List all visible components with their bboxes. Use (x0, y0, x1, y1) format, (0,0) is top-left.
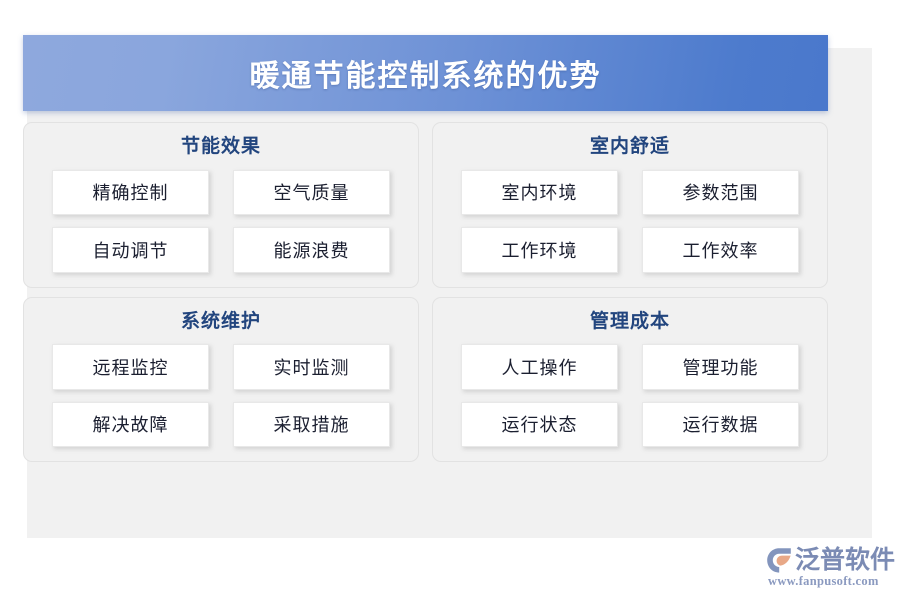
section-panel-management-cost: 管理成本 人工操作 管理功能 运行状态 运行数据 (432, 297, 828, 463)
page-title: 暖通节能控制系统的优势 (250, 51, 602, 95)
item-card[interactable]: 室内环境 (461, 170, 618, 215)
item-card[interactable]: 运行数据 (642, 402, 799, 447)
items-grid: 室内环境 参数范围 工作环境 工作效率 (461, 170, 799, 273)
logo-url: www.fanpusoft.com (768, 574, 879, 589)
item-card[interactable]: 人工操作 (461, 344, 618, 389)
section-title: 管理成本 (461, 311, 799, 334)
items-grid: 精确控制 空气质量 自动调节 能源浪费 (52, 170, 390, 273)
section-title: 室内舒适 (461, 136, 799, 159)
item-card[interactable]: 管理功能 (642, 344, 799, 389)
page-root: 暖通节能控制系统的优势 节能效果 精确控制 空气质量 自动调节 能源浪费 室内舒… (0, 0, 900, 600)
item-card[interactable]: 空气质量 (233, 170, 390, 215)
item-card[interactable]: 精确控制 (52, 170, 209, 215)
item-card[interactable]: 自动调节 (52, 227, 209, 272)
banner-header: 暖通节能控制系统的优势 (23, 35, 828, 111)
item-card[interactable]: 能源浪费 (233, 227, 390, 272)
footer-logo: 泛普软件 www.fanpusoft.com (766, 545, 890, 591)
items-grid: 人工操作 管理功能 运行状态 运行数据 (461, 344, 799, 447)
logo-row: 泛普软件 (766, 545, 895, 575)
item-card[interactable]: 参数范围 (642, 170, 799, 215)
fanpu-logo-icon (766, 547, 793, 574)
item-card[interactable]: 采取措施 (233, 402, 390, 447)
item-card[interactable]: 运行状态 (461, 402, 618, 447)
logo-wordmark: 泛普软件 (795, 547, 895, 574)
section-title: 节能效果 (52, 136, 390, 159)
section-panel-energy-saving: 节能效果 精确控制 空气质量 自动调节 能源浪费 (23, 122, 419, 288)
section-panel-indoor-comfort: 室内舒适 室内环境 参数范围 工作环境 工作效率 (432, 122, 828, 288)
section-panel-system-maintenance: 系统维护 远程监控 实时监测 解决故障 采取措施 (23, 297, 419, 463)
item-card[interactable]: 远程监控 (52, 344, 209, 389)
items-grid: 远程监控 实时监测 解决故障 采取措施 (52, 344, 390, 447)
item-card[interactable]: 工作效率 (642, 227, 799, 272)
sections-grid: 节能效果 精确控制 空气质量 自动调节 能源浪费 室内舒适 室内环境 参数范围 … (23, 122, 828, 462)
item-card[interactable]: 实时监测 (233, 344, 390, 389)
section-title: 系统维护 (52, 311, 390, 334)
item-card[interactable]: 工作环境 (461, 227, 618, 272)
item-card[interactable]: 解决故障 (52, 402, 209, 447)
